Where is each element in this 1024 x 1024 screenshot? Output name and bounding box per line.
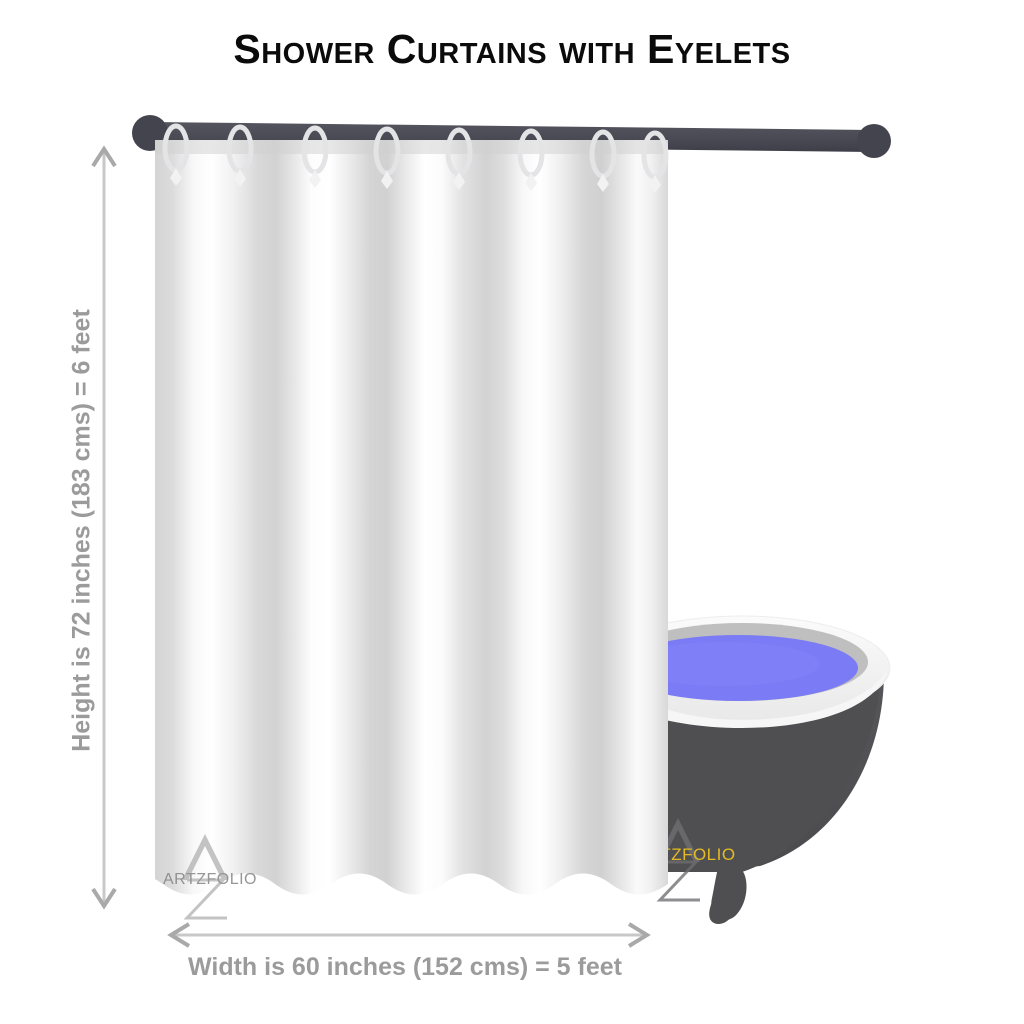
shower-curtain: ARTZFOLIO — [155, 140, 668, 918]
curtain-fabric — [155, 140, 668, 900]
product-infographic: Shower Curtains with Eyelets — [0, 0, 1024, 1024]
scene-illustration: ARTZFOLIO ARTZFOLIO — [0, 0, 1024, 1024]
svg-text:ARTZFOLIO: ARTZFOLIO — [163, 871, 257, 888]
width-dimension-line — [171, 924, 647, 946]
width-dimension-label: Width is 60 inches (152 cms) = 5 feet — [0, 953, 810, 982]
height-dimension-label: Height is 72 inches (183 cms) = 6 feet — [68, 211, 97, 851]
rod-finial-right — [857, 124, 891, 158]
